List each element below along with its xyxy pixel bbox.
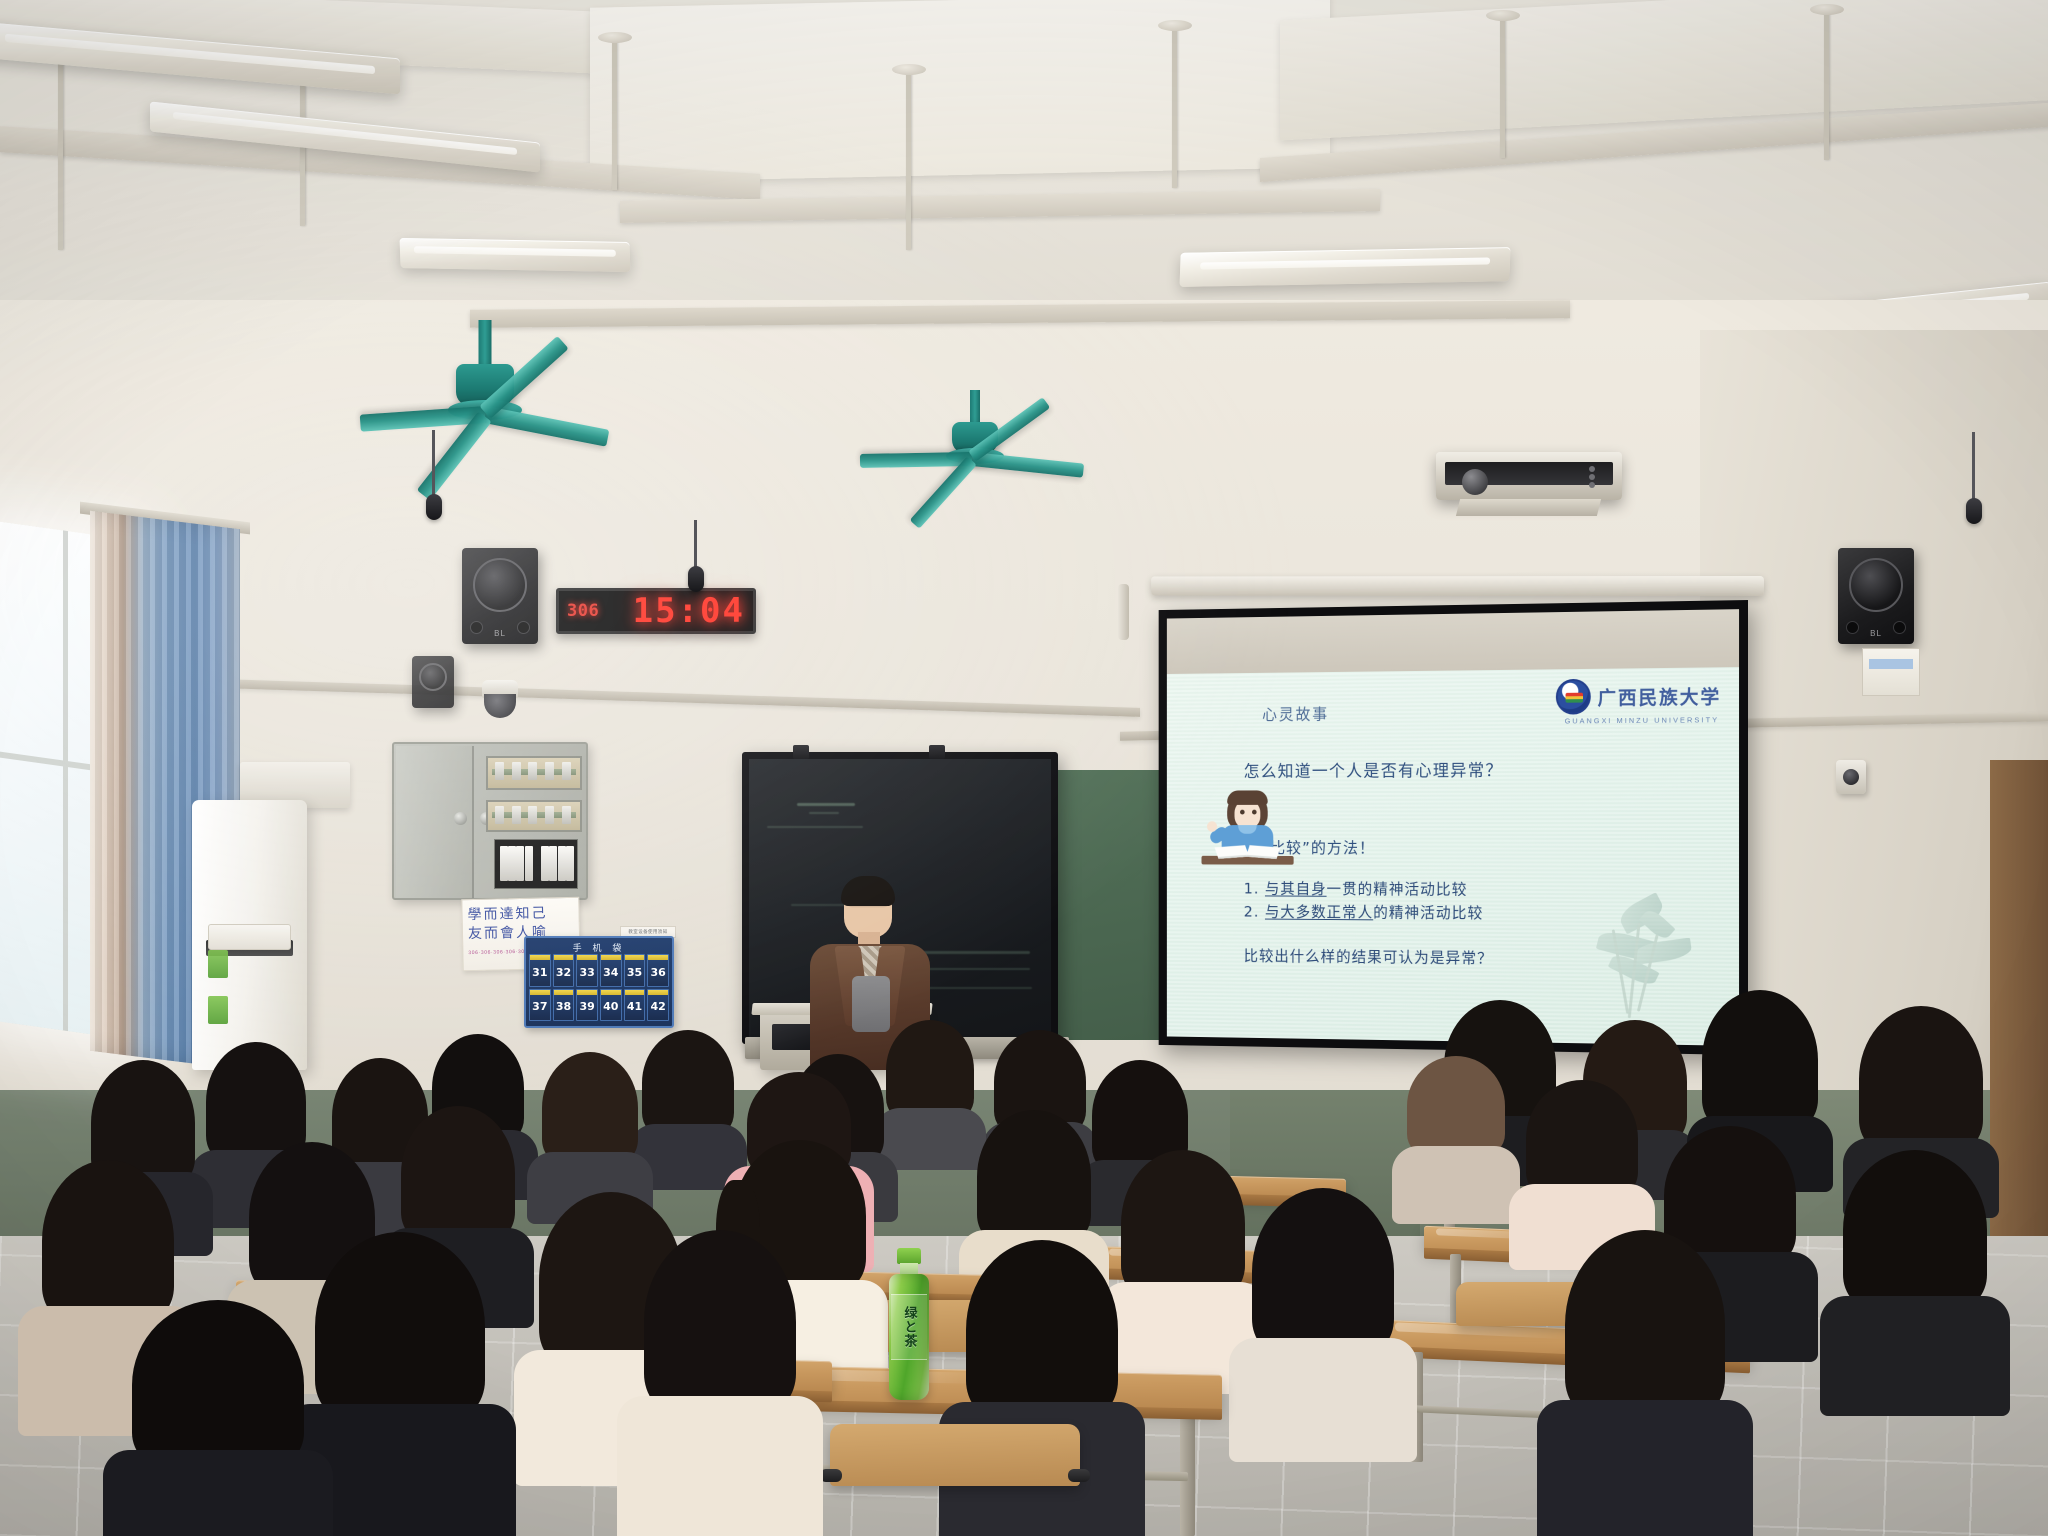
hanger-rod — [906, 72, 911, 250]
poster-line-1: 學而達知己 — [467, 904, 573, 925]
student — [1118, 1150, 1248, 1370]
student — [128, 1300, 308, 1536]
wall-speaker: BL — [462, 548, 538, 644]
university-logo: 广西民族大学 GUANGXI MINZU UNIVERSITY — [1556, 677, 1721, 725]
screen-arm — [1118, 584, 1129, 640]
student — [962, 1240, 1122, 1536]
phone-pocket[interactable]: 32 — [553, 954, 575, 987]
ceiling-slab — [590, 0, 1330, 183]
bullet-text: 一贯的精神活动比较 — [1327, 880, 1468, 898]
university-name-cn: 广西民族大学 — [1598, 682, 1722, 710]
fluorescent-light — [1180, 247, 1511, 287]
teacher-hair — [841, 876, 895, 906]
ceiling-fan — [880, 390, 1070, 486]
bullet-text: 的精神活动比较 — [1373, 904, 1483, 922]
phone-pocket[interactable]: 40 — [600, 989, 622, 1022]
clock-room-number: 306 — [567, 601, 599, 621]
screen-top-band — [1167, 609, 1739, 674]
student — [1404, 1056, 1508, 1206]
wall-speaker — [412, 656, 454, 708]
board-clip — [929, 745, 945, 759]
microphone-capsule — [1966, 498, 1982, 524]
rod-cap — [1810, 4, 1844, 15]
classroom-scene: BL BL 306 15:04 學而達知己 友而會人喻 306·306·306·… — [0, 0, 2048, 1536]
bullet-emphasis: 与其自身 — [1265, 880, 1327, 898]
phone-pocket-number: 40 — [603, 1000, 618, 1013]
phone-pocket-number: 41 — [627, 1000, 642, 1013]
hanging-microphone — [1972, 432, 1975, 502]
electrical-panel[interactable] — [392, 742, 588, 900]
phone-pocket[interactable]: 34 — [600, 954, 622, 987]
phone-pocket-number: 42 — [651, 1000, 666, 1013]
phone-pocket[interactable]: 31 — [529, 954, 551, 987]
slide-kicker: 心灵故事 — [1262, 701, 1329, 725]
bottle-brand: 绿と茶 — [900, 1306, 919, 1348]
phone-pocket[interactable]: 38 — [553, 989, 575, 1022]
screen-roller-housing[interactable] — [1151, 576, 1764, 596]
rod-cap — [1486, 10, 1520, 21]
rod-cap — [598, 32, 632, 43]
phone-pocket-number: 35 — [627, 966, 642, 979]
ceiling-fan — [380, 320, 590, 430]
student — [1840, 1150, 1990, 1380]
student-chair — [830, 1424, 1080, 1486]
rod-cap — [892, 64, 926, 75]
hanger-rod — [1500, 18, 1505, 158]
university-seal-icon — [1556, 679, 1591, 715]
presentation-slide: 广西民族大学 GUANGXI MINZU UNIVERSITY 心灵故事 怎么知… — [1167, 667, 1739, 1046]
bullet-number: 1. — [1244, 880, 1265, 897]
slide-closing-question: 比较出什么样的结果可认为是异常？ — [1244, 944, 1493, 968]
phone-pocket-board[interactable]: 手 机 袋 313233343536373839404142 — [524, 936, 674, 1028]
drink-bottle[interactable]: 绿と茶 — [888, 1248, 930, 1400]
plant-decoration-icon — [1580, 889, 1717, 1039]
student — [1522, 1080, 1642, 1250]
dome-camera — [478, 680, 522, 720]
student — [884, 1020, 976, 1160]
microphone-capsule — [688, 566, 704, 592]
student — [1248, 1188, 1398, 1438]
student — [540, 1052, 640, 1212]
phone-pocket-number: 36 — [651, 966, 666, 979]
hanger-rod — [612, 40, 617, 190]
projection-screen[interactable]: 广西民族大学 GUANGXI MINZU UNIVERSITY 心灵故事 怎么知… — [1159, 600, 1748, 1055]
wall-speaker: BL — [1838, 548, 1914, 644]
phone-pocket[interactable]: 41 — [624, 989, 646, 1022]
student — [1560, 1230, 1730, 1530]
hanger-rod — [1824, 10, 1829, 160]
microphone-capsule — [426, 494, 442, 520]
phone-pocket-grid[interactable]: 313233343536373839404142 — [529, 954, 669, 1021]
phone-pocket-number: 34 — [603, 966, 618, 979]
rod-cap — [1158, 20, 1192, 31]
fluorescent-light — [400, 238, 631, 272]
phone-pocket-number: 38 — [556, 1000, 571, 1013]
girl-reading-icon — [1202, 786, 1294, 875]
phone-pocket[interactable]: 42 — [647, 989, 669, 1022]
hanger-rod — [1172, 28, 1177, 188]
slide-bullet: 2. 与大多数正常人的精神活动比较 — [1244, 900, 1484, 925]
phone-pocket-number: 33 — [580, 966, 595, 979]
board-clip — [793, 745, 809, 759]
hanger-rod — [58, 60, 63, 250]
slide-bullet: 1. 与其自身一贯的精神活动比较 — [1244, 877, 1484, 901]
digital-clock: 306 15:04 — [556, 588, 756, 634]
university-name-en: GUANGXI MINZU UNIVERSITY — [1565, 715, 1720, 725]
phone-pocket[interactable]: 36 — [647, 954, 669, 987]
student — [640, 1030, 736, 1178]
wall-notice — [1862, 648, 1920, 696]
phone-pocket-number: 37 — [532, 1000, 547, 1013]
hanging-microphone — [432, 430, 435, 498]
clock-time: 15:04 — [633, 591, 745, 631]
phone-pocket[interactable]: 37 — [529, 989, 551, 1022]
phone-pocket-number: 39 — [580, 1000, 595, 1013]
wall-camera — [1836, 760, 1866, 794]
hanging-microphone — [694, 520, 697, 570]
bullet-number: 2. — [1244, 903, 1265, 920]
phone-pocket[interactable]: 39 — [576, 989, 598, 1022]
student — [310, 1232, 490, 1536]
slide-bullet-list: 1. 与其自身一贯的精神活动比较2. 与大多数正常人的精神活动比较 — [1244, 877, 1484, 925]
phone-pocket-number: 31 — [532, 966, 547, 979]
phone-pocket[interactable]: 35 — [624, 954, 646, 987]
phone-pocket[interactable]: 33 — [576, 954, 598, 987]
phone-pocket-number: 32 — [556, 966, 571, 979]
ceiling-projector — [1436, 452, 1622, 500]
slide-question: 怎么知道一个人是否有心理异常？ — [1244, 756, 1503, 781]
air-conditioner[interactable] — [192, 800, 307, 1070]
bullet-emphasis: 与大多数正常人 — [1265, 903, 1373, 921]
phone-board-title: 手 机 袋 — [529, 941, 669, 954]
student — [640, 1230, 800, 1530]
